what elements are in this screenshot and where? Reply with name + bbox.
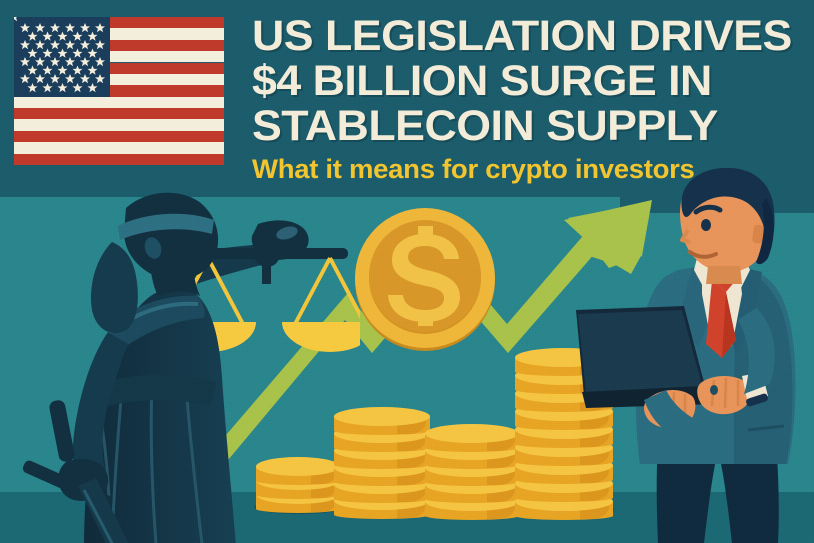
headline-block: US LEGISLATION DRIVES $4 BILLION SURGE I… (252, 14, 800, 184)
dollar-coin-icon (352, 206, 498, 352)
headline-line-1: US LEGISLATION DRIVES (252, 14, 814, 59)
headline-line-2: $4 BILLION SURGE IN (252, 59, 814, 104)
subtitle: What it means for crypto investors (252, 154, 811, 184)
coin-stack-1 (256, 457, 340, 519)
united-states-flag (14, 17, 224, 165)
headline-line-3: STABLECOIN SUPPLY (252, 104, 814, 149)
flag-stars (14, 17, 110, 97)
businessman-with-laptop (556, 168, 814, 543)
poster-root: US LEGISLATION DRIVES $4 BILLION SURGE I… (0, 0, 814, 543)
coin-stack-2 (334, 407, 430, 521)
coin-stack-3 (425, 424, 519, 522)
